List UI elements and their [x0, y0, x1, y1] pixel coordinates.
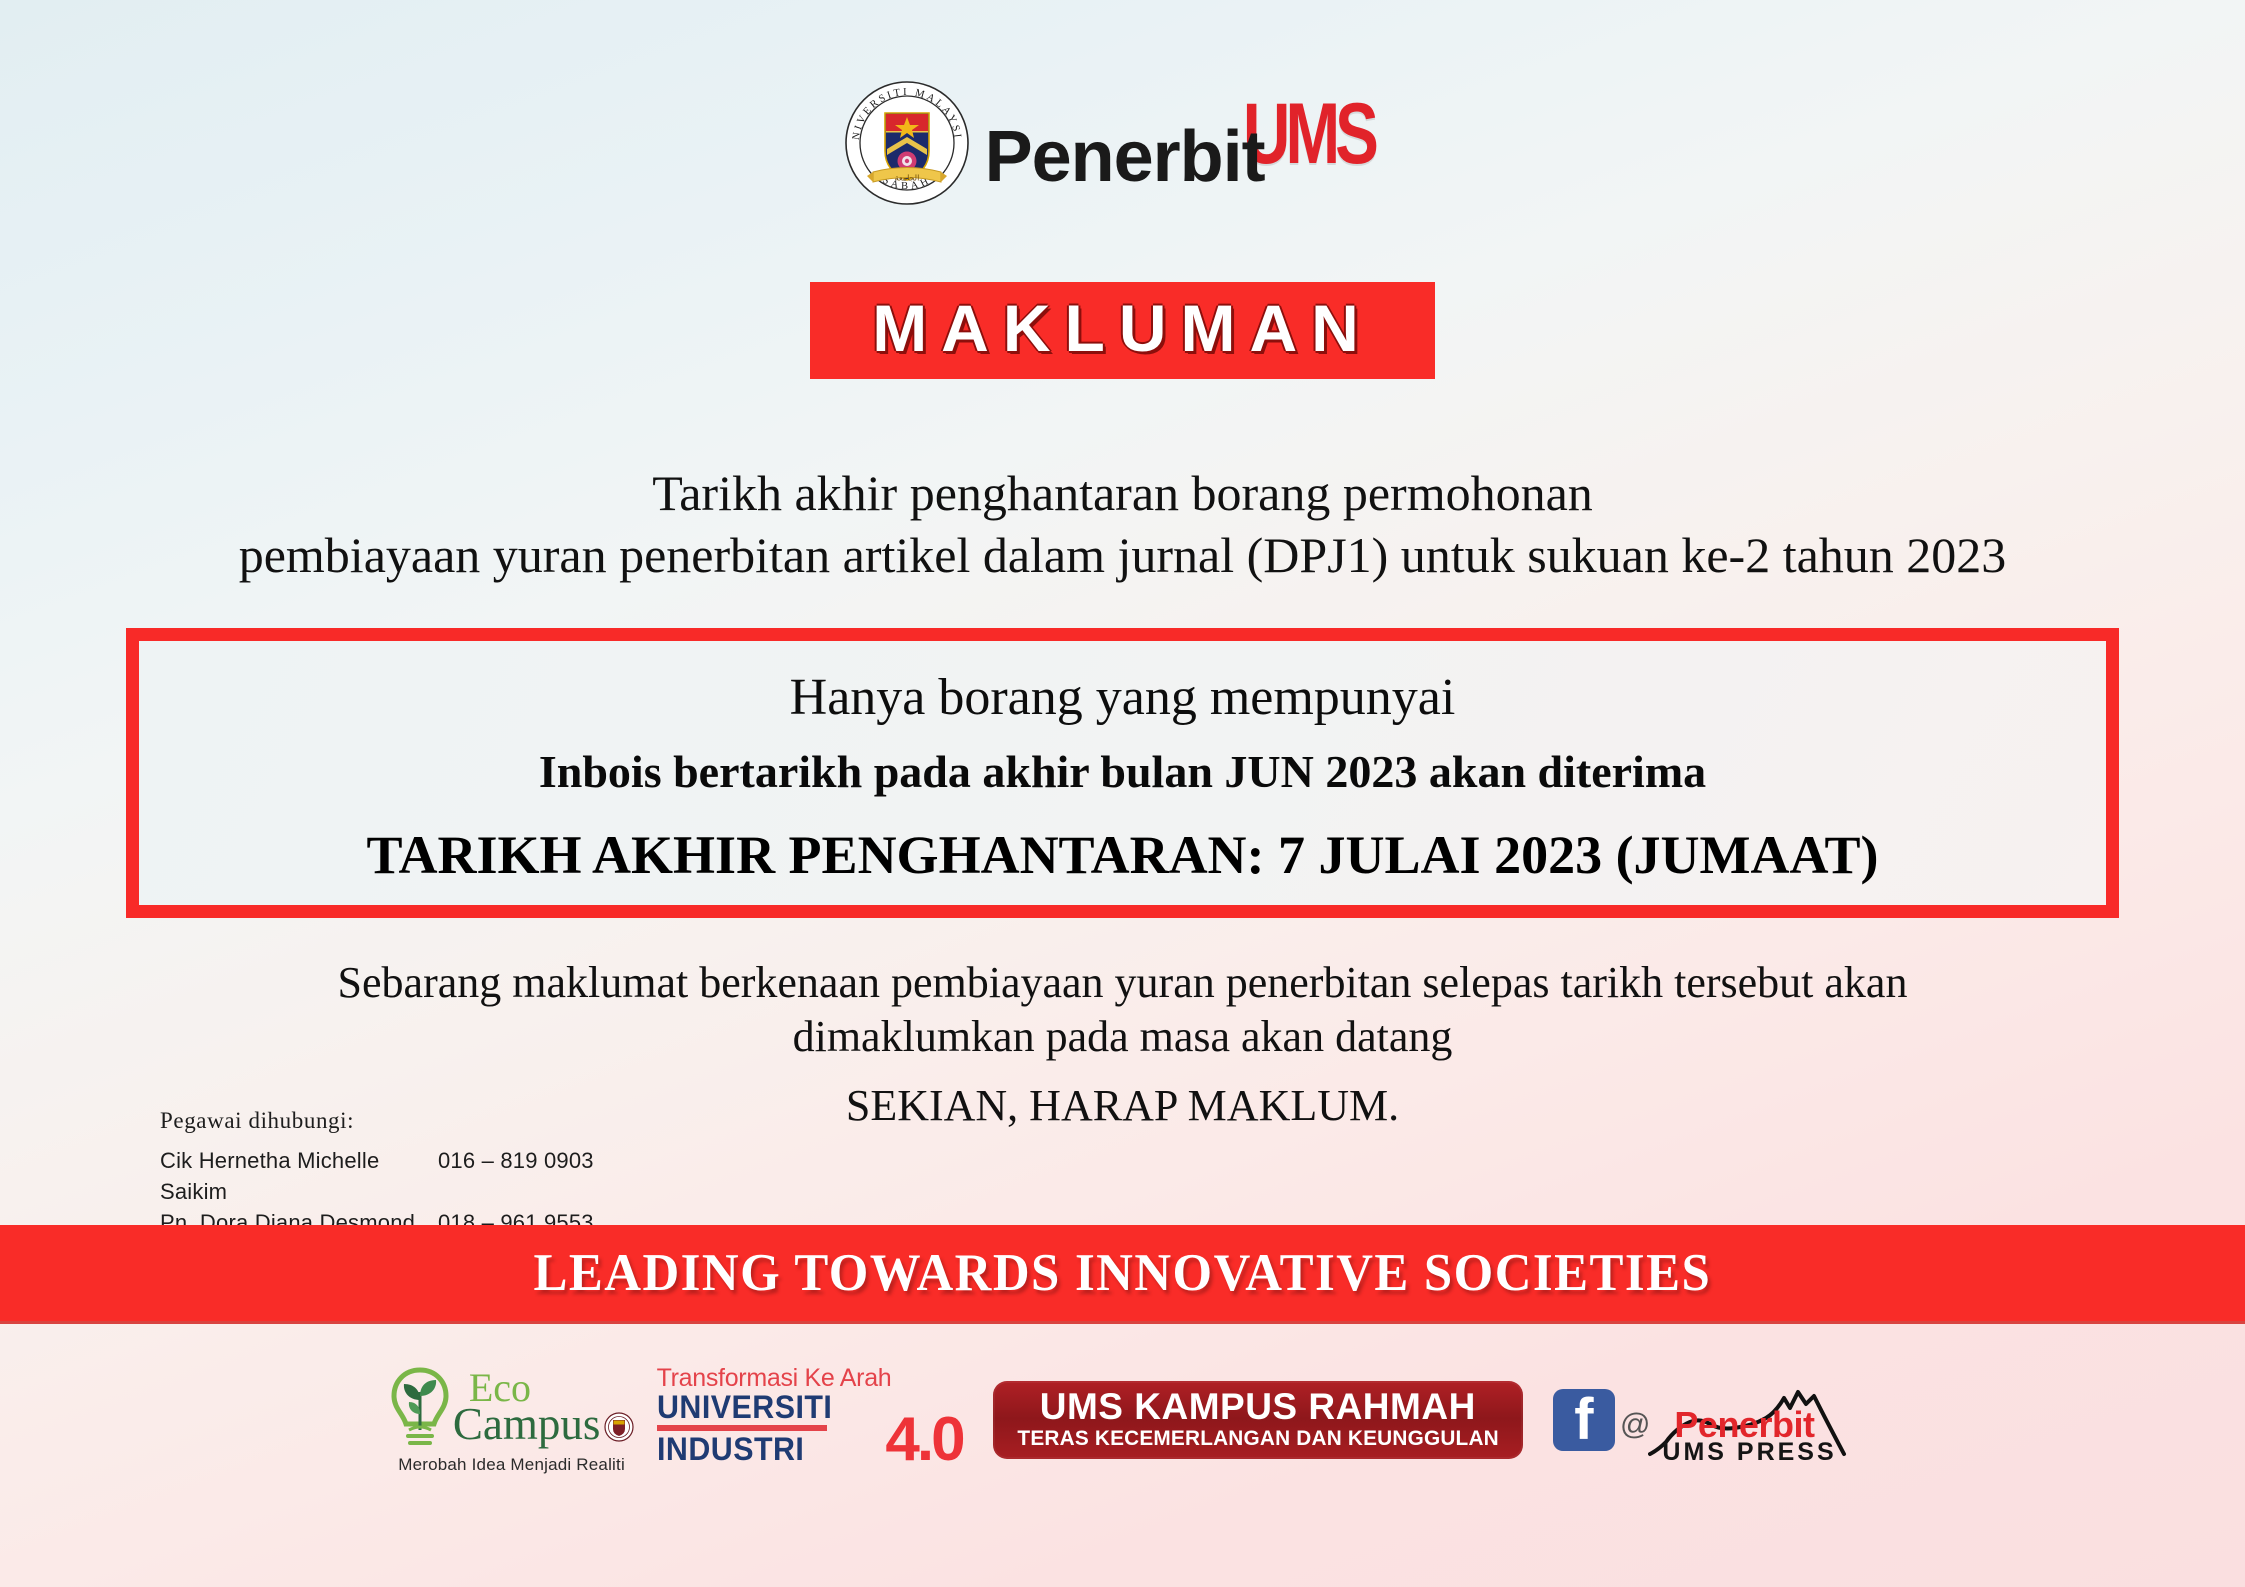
- partner-logo-strip: Eco Campus Merobah Idea Menjadi Realiti …: [0, 1340, 2245, 1500]
- poster-root: UNIVERSITI MALAYSIA SABAH: [0, 0, 2245, 1587]
- universiti-industri-40-logo: Transformasi Ke Arah UNIVERSITI INDUSTRI…: [657, 1374, 963, 1466]
- eco-campus-mark: Eco Campus: [389, 1366, 635, 1450]
- industri-text-block: Transformasi Ke Arah UNIVERSITI INDUSTRI: [657, 1365, 892, 1467]
- at-sign-icon: @: [1620, 1408, 1650, 1442]
- ums-crest-icon: UNIVERSITI MALAYSIA SABAH: [843, 79, 971, 207]
- makluman-title: MAKLUMAN: [810, 282, 1435, 379]
- eco-campus-wordmark: Eco Campus: [453, 1371, 601, 1444]
- penerbit-ums-wordmark: Penerbit UMS: [985, 93, 1403, 193]
- tagline-banner: LEADING TOWARDS INNOVATIVE SOCIETIES: [0, 1225, 2245, 1324]
- lightbulb-leaf-icon: [389, 1366, 451, 1450]
- makluman-banner: MAKLUMAN: [0, 282, 2245, 379]
- intro-line-2: pembiayaan yuran penerbitan artikel dala…: [0, 524, 2245, 586]
- facebook-icon[interactable]: f: [1553, 1389, 1615, 1451]
- penerbit-ums-press-mark: Penerbit UMS PRESS: [1648, 1378, 1848, 1462]
- highlight-line-2: Inbois bertarikh pada akhir bulan JUN 20…: [539, 745, 1706, 798]
- contact-person-1: Cik Hernetha Michelle Saikim 016 – 819 0…: [160, 1145, 594, 1207]
- note-paragraph: Sebarang maklumat berkenaan pembiayaan y…: [0, 956, 2245, 1063]
- intro-line-1: Tarikh akhir penghantaran borang permoho…: [0, 462, 2245, 524]
- eco-word-bottom: Campus: [453, 1405, 601, 1444]
- highlight-deadline: TARIKH AKHIR PENGHANTARAN: 7 JULAI 2023 …: [367, 824, 1879, 886]
- industri-version: 4.0: [885, 1415, 962, 1466]
- facebook-glyph: f: [1553, 1391, 1615, 1449]
- rahmah-line-1: UMS KAMPUS RAHMAH: [1040, 1388, 1476, 1425]
- industri-line-top: Transformasi Ke Arah: [657, 1365, 892, 1391]
- contact-phone-1: 016 – 819 0903: [438, 1145, 594, 1207]
- tagline-text: LEADING TOWARDS INNOVATIVE SOCIETIES: [534, 1243, 1712, 1303]
- industri-line-bottom: INDUSTRI: [657, 1433, 804, 1466]
- eco-campus-logo: Eco Campus Merobah Idea Menjadi Realiti: [397, 1366, 627, 1475]
- svg-text:الجامعة: الجامعة: [894, 174, 919, 183]
- note-line-2: dimaklumkan pada masa akan datang: [0, 1010, 2245, 1064]
- wordmark-penerbit: Penerbit: [985, 121, 1265, 193]
- industri-line-mid: UNIVERSITI: [657, 1391, 832, 1424]
- intro-paragraph: Tarikh akhir penghantaran borang permoho…: [0, 462, 2245, 586]
- ums-kampus-rahmah-logo: UMS KAMPUS RAHMAH TERAS KECEMERLANGAN DA…: [993, 1381, 1523, 1459]
- facebook-penerbit-ums-press-logo: f @ Penerbit UMS PRESS: [1553, 1378, 1848, 1462]
- rahmah-line-2: TERAS KECEMERLANGAN DAN KEUNGGULAN: [1017, 1427, 1498, 1450]
- deadline-highlight-box: Hanya borang yang mempunyai Inbois berta…: [126, 628, 2119, 918]
- contact-name-1: Cik Hernetha Michelle Saikim: [160, 1145, 438, 1207]
- note-line-1: Sebarang maklumat berkenaan pembiayaan y…: [0, 956, 2245, 1010]
- ums-mini-crest-icon: [604, 1412, 634, 1442]
- press-name-bottom: UMS PRESS: [1662, 1438, 1836, 1467]
- contact-block: Pegawai dihubungi: Cik Hernetha Michelle…: [160, 1108, 594, 1239]
- highlight-line-1: Hanya borang yang mempunyai: [790, 668, 1456, 727]
- eco-campus-tagline: Merobah Idea Menjadi Realiti: [398, 1455, 625, 1475]
- brand-header: UNIVERSITI MALAYSIA SABAH: [0, 78, 2245, 208]
- contact-title: Pegawai dihubungi:: [160, 1108, 594, 1134]
